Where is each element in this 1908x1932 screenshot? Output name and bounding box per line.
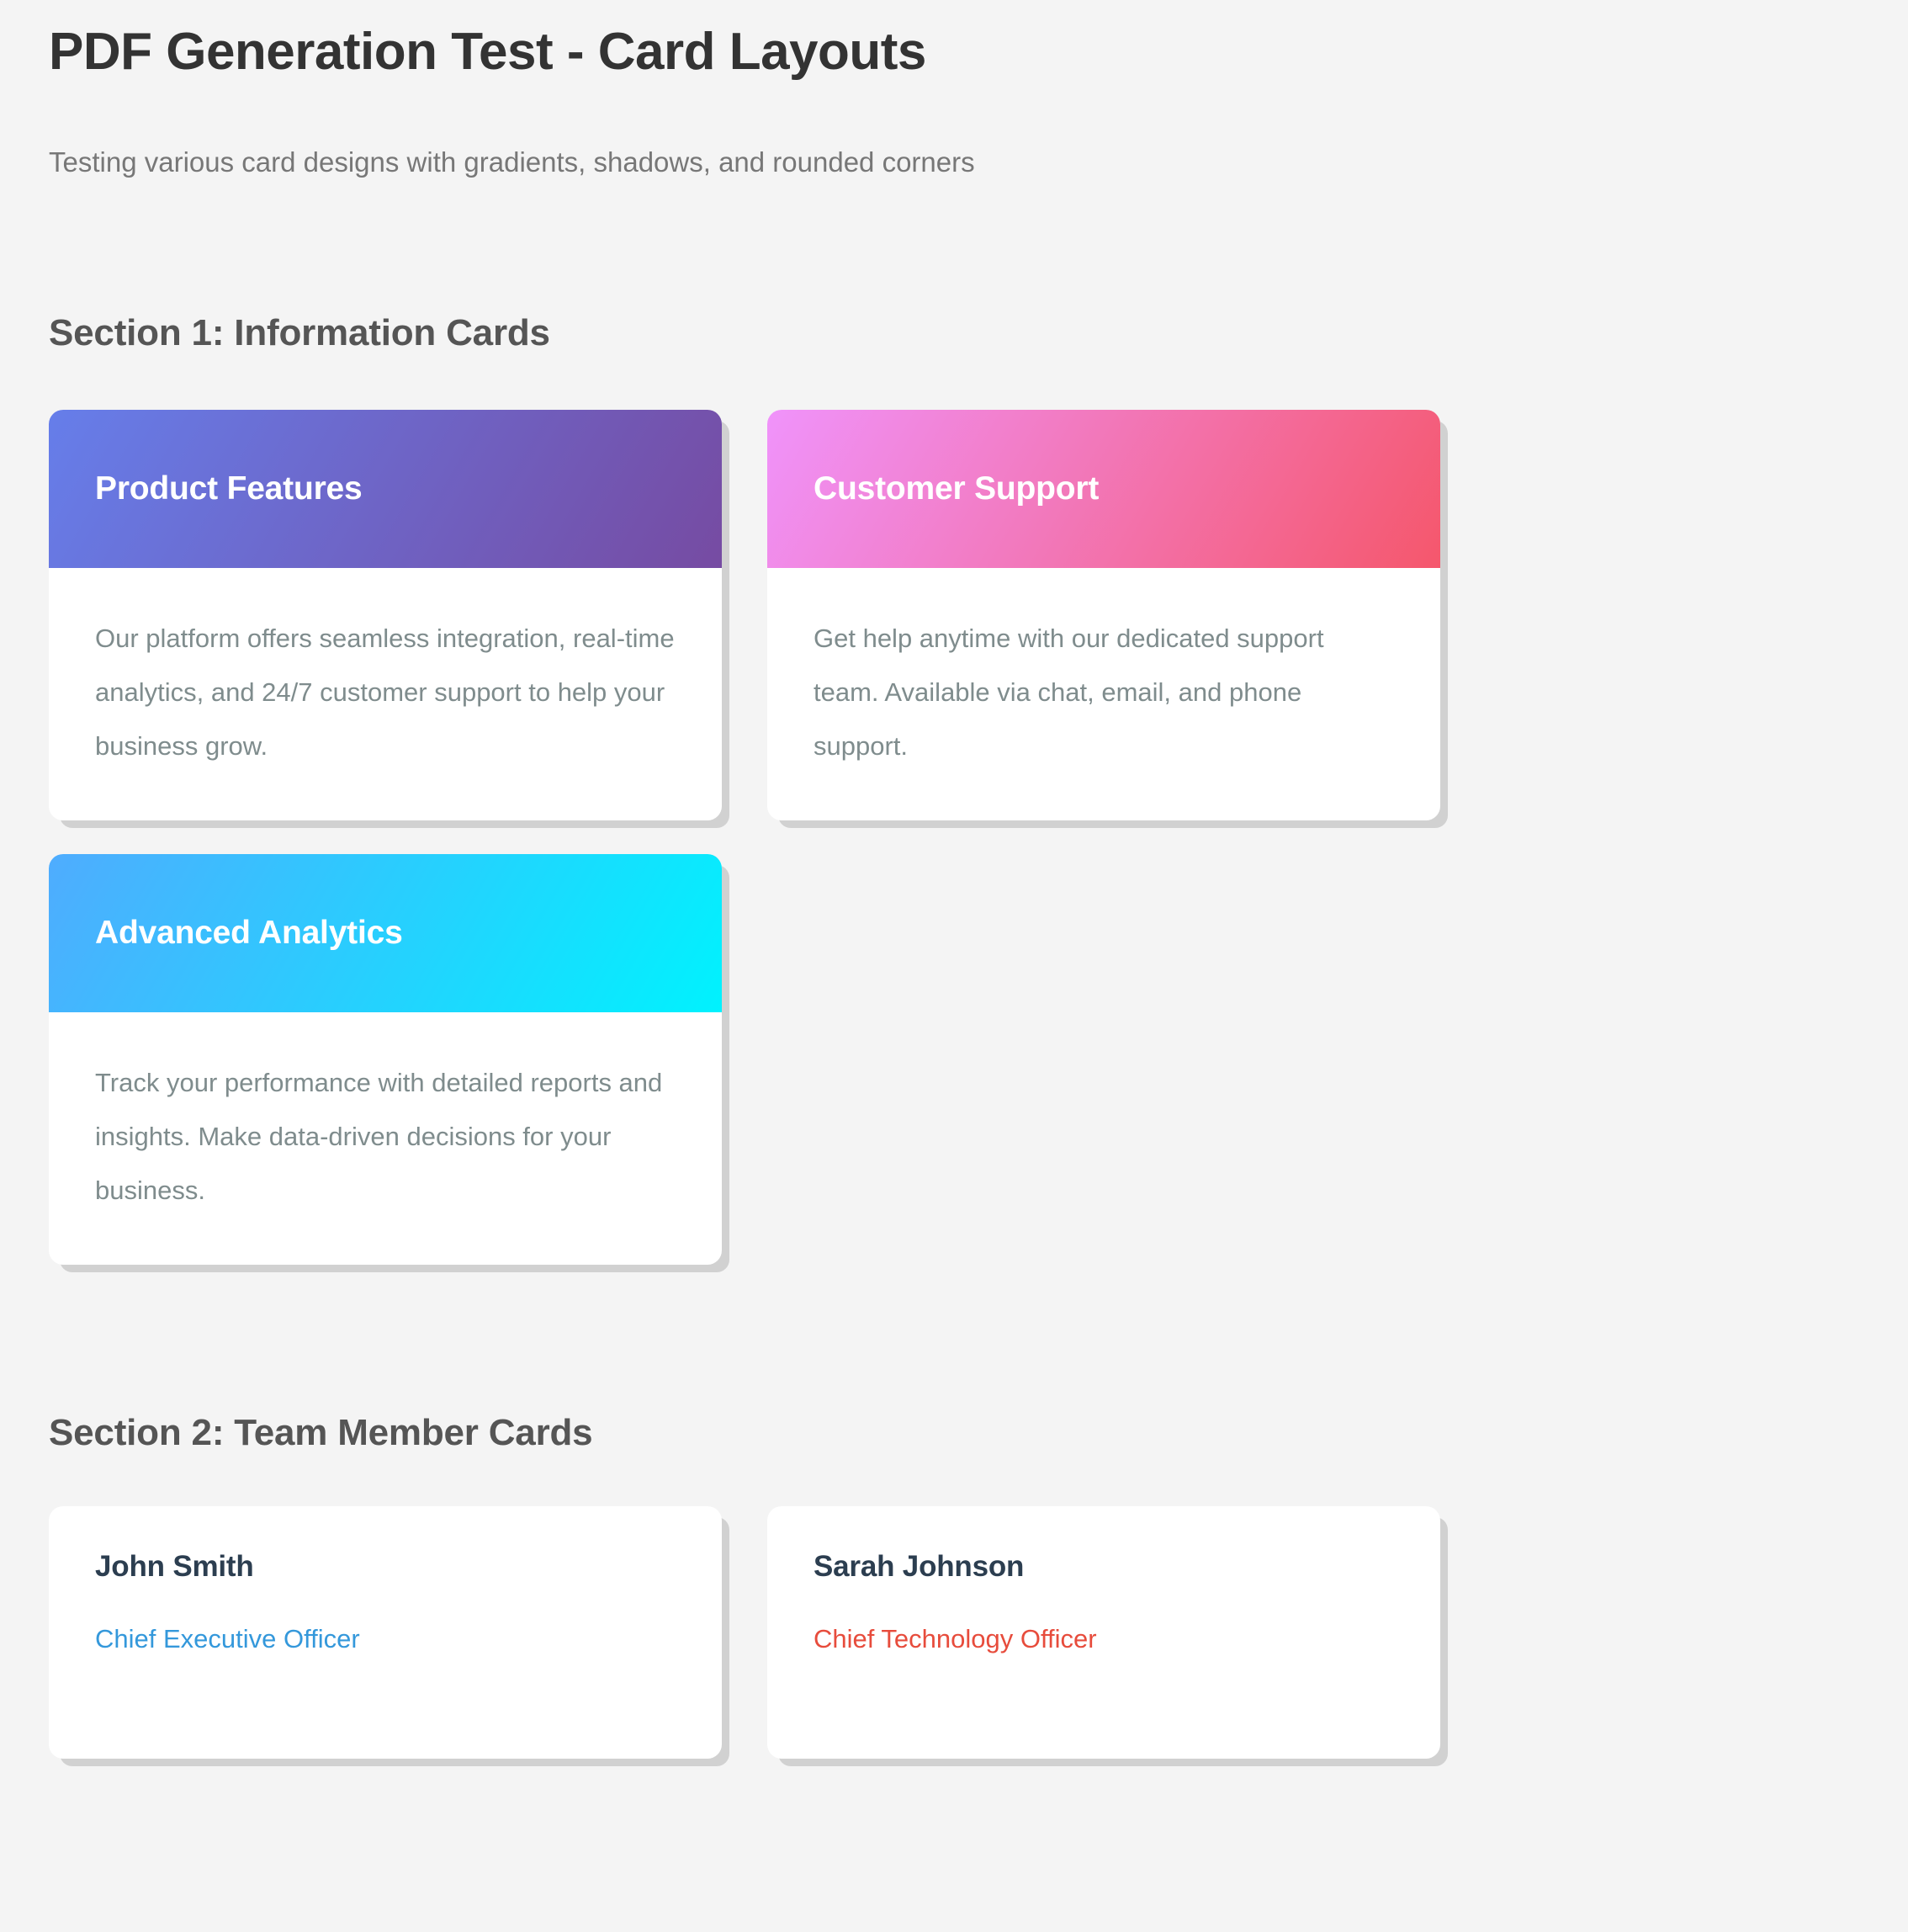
info-card-header: Customer Support — [767, 410, 1440, 568]
team-member-name: John Smith — [95, 1550, 676, 1584]
info-card-header: Product Features — [49, 410, 722, 568]
team-member-cards-grid: John Smith Chief Executive Officer Sarah… — [49, 1506, 1455, 1759]
team-member-role: Chief Technology Officer — [814, 1622, 1394, 1656]
team-member-name: Sarah Johnson — [814, 1550, 1394, 1584]
section-1-heading: Section 1: Information Cards — [49, 312, 1859, 354]
info-card-description: Get help anytime with our dedicated supp… — [814, 612, 1394, 773]
info-card-title: Advanced Analytics — [95, 915, 403, 952]
page-title: PDF Generation Test - Card Layouts — [49, 0, 1859, 82]
section-2-heading: Section 2: Team Member Cards — [49, 1412, 1859, 1454]
info-card-body: Track your performance with detailed rep… — [49, 1012, 722, 1265]
info-card-description: Our platform offers seamless integration… — [95, 612, 676, 773]
team-card-sarah-johnson[interactable]: Sarah Johnson Chief Technology Officer — [767, 1506, 1440, 1759]
info-card-header: Advanced Analytics — [49, 854, 722, 1012]
info-card-advanced-analytics[interactable]: Advanced Analytics Track your performanc… — [49, 854, 722, 1265]
info-card-description: Track your performance with detailed rep… — [95, 1056, 676, 1218]
info-card-product-features[interactable]: Product Features Our platform offers sea… — [49, 410, 722, 820]
page-subtitle: Testing various card designs with gradie… — [49, 143, 1859, 182]
info-card-title: Customer Support — [814, 470, 1099, 507]
info-card-body: Our platform offers seamless integration… — [49, 568, 722, 820]
document-page: PDF Generation Test - Card Layouts Testi… — [0, 0, 1908, 1932]
team-member-role: Chief Executive Officer — [95, 1622, 676, 1656]
info-card-customer-support[interactable]: Customer Support Get help anytime with o… — [767, 410, 1440, 820]
team-card-john-smith[interactable]: John Smith Chief Executive Officer — [49, 1506, 722, 1759]
info-card-body: Get help anytime with our dedicated supp… — [767, 568, 1440, 820]
info-card-title: Product Features — [95, 470, 363, 507]
information-cards-grid: Product Features Our platform offers sea… — [49, 410, 1455, 1265]
